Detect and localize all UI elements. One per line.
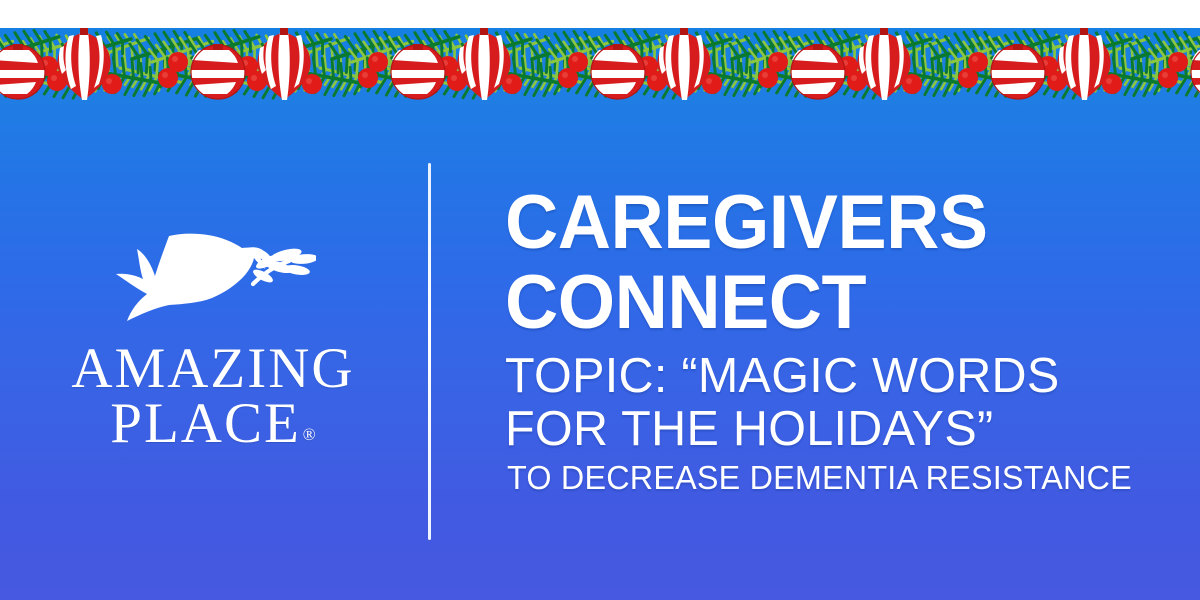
event-copy: CAREGIVERS CONNECT TOPIC: “MAGIC WORDS F… [505,186,1165,496]
vertical-divider [428,163,431,540]
topic-line2: FOR THE HOLIDAYS” [505,404,1158,454]
subheadline: TO DECREASE DEMENTIA RESISTANCE [507,461,1152,496]
garland-units [0,28,1200,106]
event-banner: AMAZING PLACE® CAREGIVERS CONNECT TOPIC:… [0,0,1200,600]
logo-wordmark-line1: AMAZING [48,342,378,397]
logo-wordmark-line2-text: PLACE [110,392,301,455]
amazing-place-logo: AMAZING PLACE® [48,222,378,451]
topic-line1: TOPIC: “MAGIC WORDS [505,351,1158,401]
dove-olive-branch-icon [48,222,378,340]
top-white-strip [0,0,1200,28]
logo-wordmark-line2: PLACE® [110,397,315,452]
registered-trademark-icon: ® [303,425,318,444]
headline-line2: CONNECT [505,266,1145,340]
headline-line1: CAREGIVERS [505,186,1145,260]
christmas-garland-border [0,28,1200,130]
